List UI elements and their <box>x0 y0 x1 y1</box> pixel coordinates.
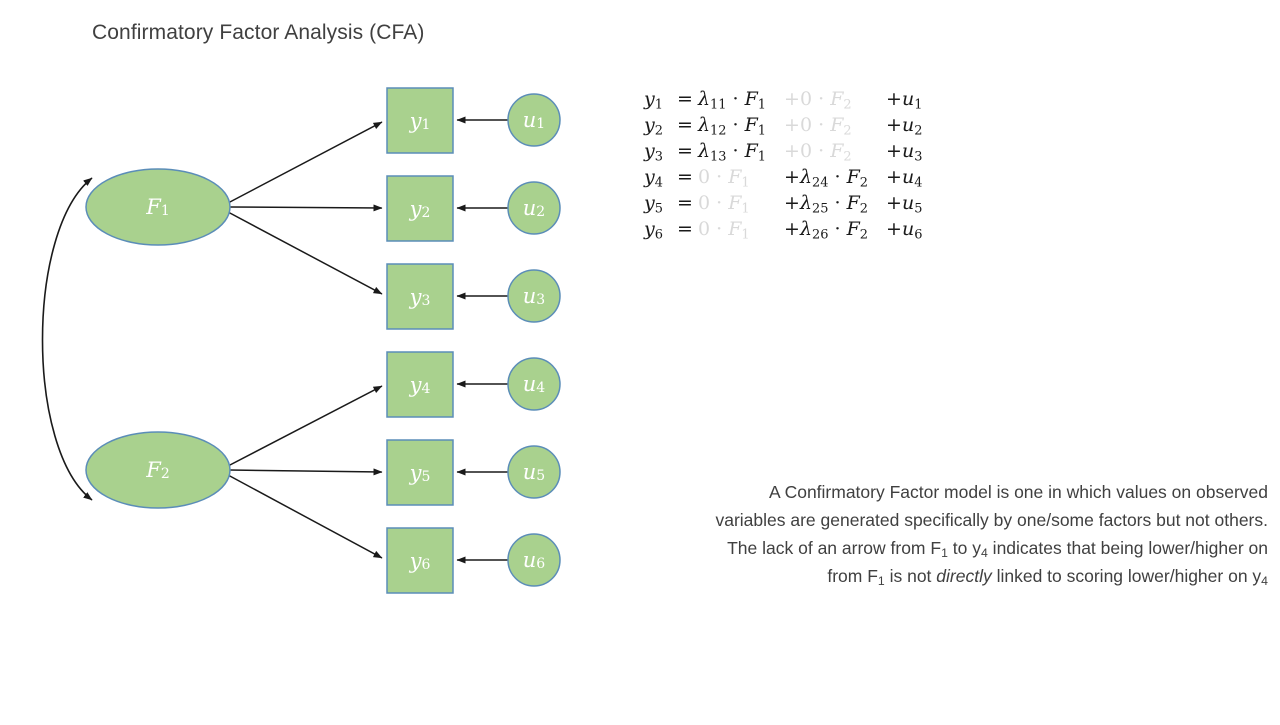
residual-node-u5[interactable]: u5 <box>508 446 560 498</box>
residual-node-u2[interactable]: u2 <box>508 182 560 234</box>
indicator-node-y4[interactable]: y4 <box>387 352 453 417</box>
equations-list: y1=λ11 · F1+0 · F2+u1y2=λ12 · F1+0 · F2+… <box>644 86 974 242</box>
residual-node-u6[interactable]: u6 <box>508 534 560 586</box>
description-text: A Confirmatory Factor model is one in wh… <box>712 478 1268 590</box>
equation-row-y5: y5=0 · F1+λ25 · F2+u5 <box>644 190 974 216</box>
loading-path-f2-y6 <box>228 475 382 558</box>
diagram-svg: F1 F2 y1 y2 y3 y4 y5 y6 <box>0 0 620 720</box>
factor-node-f1[interactable]: F1 <box>86 169 230 245</box>
covariance-path-f1-f2 <box>43 178 93 500</box>
equation-row-y2: y2=λ12 · F1+0 · F2+u2 <box>644 112 974 138</box>
equation-row-y1: y1=λ11 · F1+0 · F2+u1 <box>644 86 974 112</box>
indicator-node-y2[interactable]: y2 <box>387 176 453 241</box>
loading-path-f1-y3 <box>228 212 382 294</box>
equation-row-y3: y3=λ13 · F1+0 · F2+u3 <box>644 138 974 164</box>
loading-path-f1-y2 <box>230 207 382 208</box>
indicator-node-y5[interactable]: y5 <box>387 440 453 505</box>
indicator-node-y6[interactable]: y6 <box>387 528 453 593</box>
indicator-node-y1[interactable]: y1 <box>387 88 453 153</box>
residual-node-u4[interactable]: u4 <box>508 358 560 410</box>
indicator-node-y3[interactable]: y3 <box>387 264 453 329</box>
cfa-path-diagram: F1 F2 y1 y2 y3 y4 y5 y6 <box>0 0 620 720</box>
loading-path-f2-y5 <box>230 470 382 472</box>
equation-row-y4: y4=0 · F1+λ24 · F2+u4 <box>644 164 974 190</box>
residual-node-u3[interactable]: u3 <box>508 270 560 322</box>
loading-path-f2-y4 <box>228 386 382 466</box>
loading-path-f1-y1 <box>228 122 382 203</box>
residual-node-u1[interactable]: u1 <box>508 94 560 146</box>
factor-node-f2[interactable]: F2 <box>86 432 230 508</box>
equation-row-y6: y6=0 · F1+λ26 · F2+u6 <box>644 216 974 242</box>
